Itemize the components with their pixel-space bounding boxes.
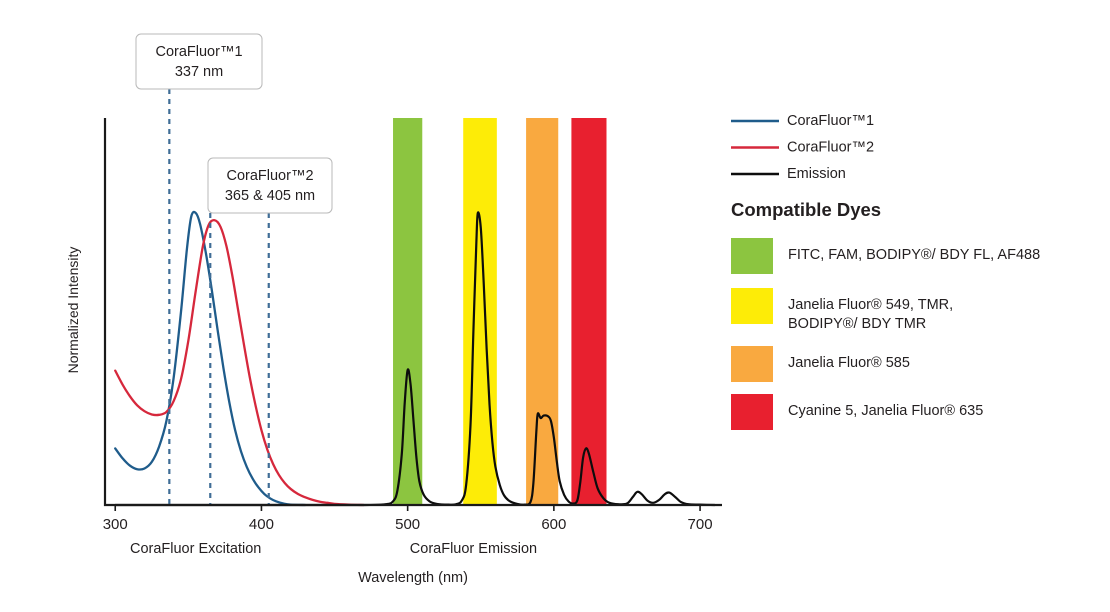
annotation-box-cf1 <box>136 34 262 89</box>
x-tick-label-500: 500 <box>395 516 420 533</box>
dye-legend-entry-3: Cyanine 5, Janelia Fluor® 635 <box>731 394 983 430</box>
legend-entry-2: Emission <box>731 166 846 182</box>
legend-entry-1: CoraFluor™2 <box>731 139 874 155</box>
x-tick-label-600: 600 <box>541 516 566 533</box>
dye-band-red <box>571 118 606 505</box>
dye-swatch-1 <box>731 288 773 324</box>
annotation-title-cf2: CoraFluor™2 <box>226 168 313 184</box>
legend-label-1: CoraFluor™2 <box>787 139 874 155</box>
annotation-title-cf1: CoraFluor™1 <box>155 44 242 60</box>
x-axis-title: Wavelength (nm) <box>358 570 468 586</box>
compatible-dyes-heading: Compatible Dyes <box>731 199 881 220</box>
annotation-cf1: CoraFluor™1337 nm <box>136 34 262 89</box>
annotation-cf2: CoraFluor™2365 & 405 nm <box>208 158 332 213</box>
annotation-box-cf2 <box>208 158 332 213</box>
dye-band-orange <box>526 118 558 505</box>
dye-label-3-0: Cyanine 5, Janelia Fluor® 635 <box>788 403 983 419</box>
dye-label-1-0: Janelia Fluor® 549, TMR, <box>788 297 953 313</box>
chart-legend: CoraFluor™1CoraFluor™2EmissionCompatible… <box>731 113 1040 430</box>
legend-entry-0: CoraFluor™1 <box>731 113 874 129</box>
dye-legend-entry-2: Janelia Fluor® 585 <box>731 346 910 382</box>
annotation-value-cf1: 337 nm <box>175 64 223 80</box>
y-axis-title: Normalized Intensity <box>65 247 81 374</box>
region-label-0: CoraFluor Excitation <box>130 541 261 557</box>
dye-label-2-0: Janelia Fluor® 585 <box>788 355 910 371</box>
dye-label-1-1: BODIPY®/ BDY TMR <box>788 316 926 332</box>
excitation-annotations: CoraFluor™1337 nmCoraFluor™2365 & 405 nm <box>136 34 332 213</box>
spectra-figure: 300400500600700CoraFluor ExcitationCoraF… <box>0 0 1110 612</box>
dye-band-green <box>393 118 422 505</box>
region-label-1: CoraFluor Emission <box>410 541 537 557</box>
dye-swatch-3 <box>731 394 773 430</box>
x-tick-label-400: 400 <box>249 516 274 533</box>
legend-label-2: Emission <box>787 166 846 182</box>
x-tick-label-300: 300 <box>103 516 128 533</box>
dye-legend-entry-1: Janelia Fluor® 549, TMR,BODIPY®/ BDY TMR <box>731 288 953 332</box>
dye-swatch-2 <box>731 346 773 382</box>
x-tick-label-700: 700 <box>688 516 713 533</box>
compatible-dye-bands <box>393 118 606 505</box>
dye-legend-entry-0: FITC, FAM, BODIPY®/ BDY FL, AF488 <box>731 238 1040 274</box>
excitation-marker-lines <box>169 89 268 505</box>
annotation-value-cf2: 365 & 405 nm <box>225 188 315 204</box>
dye-label-0-0: FITC, FAM, BODIPY®/ BDY FL, AF488 <box>788 247 1040 263</box>
dye-swatch-0 <box>731 238 773 274</box>
legend-label-0: CoraFluor™1 <box>787 113 874 129</box>
